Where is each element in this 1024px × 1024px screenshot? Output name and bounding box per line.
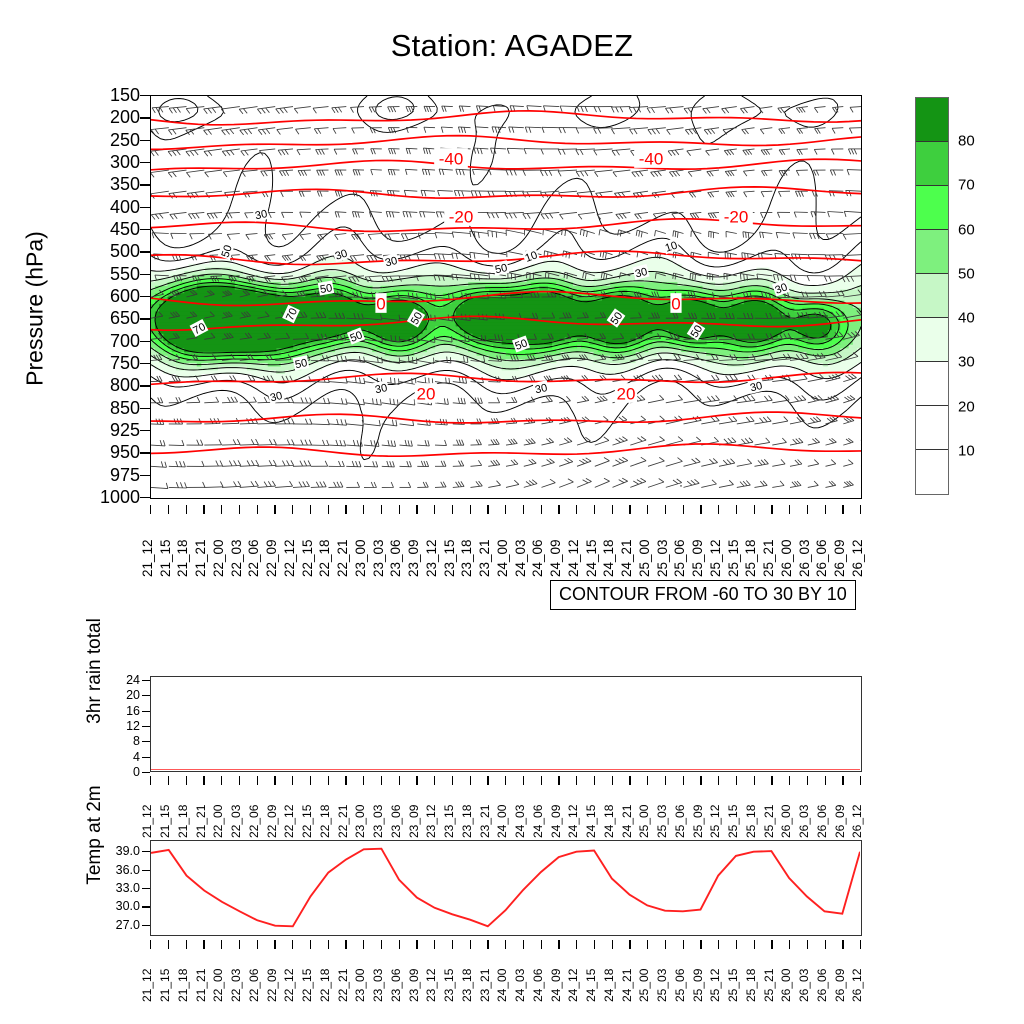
x-tick-label: 21_15 xyxy=(158,539,173,577)
main-y-axis-label: Pressure (hPa) xyxy=(22,144,49,474)
main-y-tickmark xyxy=(140,408,150,409)
contour-label: 20 xyxy=(415,383,437,403)
main-y-tick: 200 xyxy=(76,108,140,126)
x-tickmark xyxy=(771,505,772,514)
colorbar-tick-label: 20 xyxy=(958,398,975,415)
label-text: 50 xyxy=(319,282,333,296)
x-tick-label: 24_03 xyxy=(513,539,528,577)
x-tick-label: 25_03 xyxy=(655,539,670,577)
x-tick-label: 22_06 xyxy=(246,539,261,577)
x-tick-label: 22_09 xyxy=(265,969,279,1002)
x-tick-label: 21_15 xyxy=(158,805,172,838)
x-tick-label: 25_06 xyxy=(672,539,687,577)
x-tick-label: 23_03 xyxy=(371,539,386,577)
x-tickmark xyxy=(434,940,435,949)
x-tick-label: 25_21 xyxy=(762,969,776,1002)
label-text: 30 xyxy=(374,382,388,396)
x-tickmark xyxy=(363,776,364,785)
x-tick-label: 25_06 xyxy=(673,805,687,838)
main-y-tickmark xyxy=(140,95,150,96)
x-tickmark xyxy=(221,505,222,514)
wind-barb-feather xyxy=(746,232,747,238)
contour-label: -20 xyxy=(719,206,753,226)
main-y-tickmark xyxy=(140,363,150,364)
main-y-tickmark xyxy=(140,251,150,252)
main-y-tick: 300 xyxy=(76,153,140,171)
wind-barb-shaft xyxy=(832,128,843,129)
x-tickmark xyxy=(647,776,648,785)
rain-y-tickmark xyxy=(142,757,150,758)
label-text: 20 xyxy=(417,384,436,403)
contour-label: 20 xyxy=(615,383,637,403)
x-tickmark xyxy=(239,940,240,949)
label-text: -40 xyxy=(439,149,464,168)
x-tick-label: 23_00 xyxy=(353,969,367,1002)
wind-barb-shaft xyxy=(761,191,772,192)
x-tick-label: 21_18 xyxy=(176,969,190,1002)
wind-barb-shaft xyxy=(435,487,446,488)
wind-barb-shaft xyxy=(577,297,590,298)
x-tickmark xyxy=(541,505,542,514)
main-y-tickmark xyxy=(140,475,150,476)
x-tick-label: 21_21 xyxy=(193,539,208,577)
main-y-tick: 950 xyxy=(76,443,140,461)
x-tickmark xyxy=(523,776,524,785)
x-tick-label: 23_00 xyxy=(353,539,368,577)
x-tickmark xyxy=(186,776,187,785)
x-tick-label: 23_21 xyxy=(477,539,492,577)
wind-barb-feather xyxy=(425,377,426,383)
x-tick-label: 24_00 xyxy=(495,539,510,577)
x-tickmark xyxy=(203,505,204,514)
colorbar-tick-label: 60 xyxy=(958,221,975,238)
wind-barb-shaft xyxy=(400,466,412,467)
rain-total-plot[interactable] xyxy=(150,676,862,772)
x-tickmark xyxy=(345,940,346,949)
x-tick-label: 23_03 xyxy=(371,805,385,838)
x-tickmark xyxy=(186,505,187,514)
label-text: -40 xyxy=(639,149,664,168)
main-y-tick: 450 xyxy=(76,220,140,238)
wind-barb-shaft xyxy=(829,191,843,192)
x-tickmark xyxy=(558,776,559,785)
wind-barb-shaft xyxy=(311,487,326,488)
wind-barb-feather xyxy=(452,336,453,342)
x-tick-label: 25_18 xyxy=(744,969,758,1002)
label-text: 0 xyxy=(376,294,385,313)
x-tickmark xyxy=(558,940,559,949)
x-tickmark xyxy=(825,940,826,949)
label-text: 20 xyxy=(617,384,636,403)
temp-y-tickmark xyxy=(142,906,150,907)
wind-barb-feather xyxy=(395,378,396,384)
x-tickmark xyxy=(860,940,861,949)
x-tick-label: 21_21 xyxy=(194,805,208,838)
x-tick-label: 21_21 xyxy=(194,969,208,1002)
x-tick-label: 23_18 xyxy=(460,969,474,1002)
x-tick-label: 26_00 xyxy=(779,969,793,1002)
x-tick-label: 26_12 xyxy=(850,805,864,838)
x-tickmark xyxy=(612,940,613,949)
x-tickmark xyxy=(274,776,275,785)
x-tickmark xyxy=(771,776,772,785)
rain-y-tickmark xyxy=(142,772,150,773)
wind-barb-shaft xyxy=(293,466,311,467)
x-tick-label: 22_18 xyxy=(317,539,332,577)
x-tick-label: 24_12 xyxy=(566,805,580,838)
x-tick-label: 26_03 xyxy=(797,805,811,838)
x-tick-label: 24_00 xyxy=(495,805,509,838)
wind-barb-feather xyxy=(413,336,414,342)
x-tick-label: 22_15 xyxy=(300,539,315,577)
main-y-tickmark xyxy=(140,430,150,431)
x-tickmark xyxy=(221,776,222,785)
colorbar-tick-label: 70 xyxy=(958,177,975,194)
x-tickmark xyxy=(825,776,826,785)
main-y-tickmark xyxy=(140,140,150,141)
x-tickmark xyxy=(345,776,346,785)
x-tickmark xyxy=(399,940,400,949)
x-tick-label: 25_09 xyxy=(691,969,705,1002)
wind-barb-shaft xyxy=(187,402,200,403)
wind-barb-shaft xyxy=(487,212,506,213)
x-tick-label: 24_18 xyxy=(602,805,616,838)
wind-barb-feather xyxy=(744,274,745,280)
wind-barb-shaft xyxy=(424,127,435,128)
x-tick-label: 25_12 xyxy=(708,805,722,838)
x-tick-label: 24_21 xyxy=(619,539,634,577)
main-y-tick: 600 xyxy=(76,287,140,305)
x-tickmark xyxy=(470,505,471,514)
x-tickmark xyxy=(842,505,843,514)
label-text: -20 xyxy=(449,207,474,226)
wind-barb-shaft xyxy=(442,106,453,107)
contour-label: -40 xyxy=(634,148,668,168)
x-tick-label: 25_12 xyxy=(708,539,723,577)
x-tick-label: 25_15 xyxy=(726,969,740,1002)
x-tickmark xyxy=(363,505,364,514)
x-tickmark xyxy=(292,940,293,949)
temp-y-tickmark xyxy=(142,851,150,852)
wind-barb-feather xyxy=(695,274,696,280)
x-tick-label: 25_00 xyxy=(637,969,651,1002)
x-tick-label: 26_09 xyxy=(833,969,847,1002)
x-tickmark xyxy=(718,776,719,785)
x-tick-label: 23_06 xyxy=(389,969,403,1002)
wind-barb-feather xyxy=(488,231,489,237)
x-tickmark xyxy=(842,776,843,785)
main-y-tick: 350 xyxy=(76,175,140,193)
x-tick-label: 22_15 xyxy=(300,805,314,838)
x-tickmark xyxy=(310,940,311,949)
wind-barb-shaft xyxy=(371,170,382,171)
label-text: 30 xyxy=(534,382,548,396)
x-tick-label: 24_06 xyxy=(530,539,545,577)
x-tick-label: 22_03 xyxy=(229,539,244,577)
colorbar-band xyxy=(916,362,948,406)
x-tickmark xyxy=(683,776,684,785)
x-tickmark xyxy=(363,940,364,949)
x-tickmark xyxy=(736,505,737,514)
x-tickmark xyxy=(629,940,630,949)
main-y-tick: 1000 xyxy=(76,488,140,506)
x-tick-label: 22_12 xyxy=(282,539,297,577)
x-tick-label: 25_15 xyxy=(726,539,741,577)
x-tickmark xyxy=(150,940,151,949)
rain-y-tickmark xyxy=(142,741,150,742)
x-tick-label: 22_00 xyxy=(211,805,225,838)
x-tick-label: 23_21 xyxy=(478,969,492,1002)
x-tick-label: 26_12 xyxy=(850,969,864,1002)
wind-barb-feather xyxy=(747,275,748,281)
x-tick-label: 22_18 xyxy=(318,969,332,1002)
x-tick-label: 26_00 xyxy=(779,539,794,577)
x-tickmark xyxy=(399,505,400,514)
x-tickmark xyxy=(274,505,275,514)
x-tick-label: 22_09 xyxy=(265,805,279,838)
x-tickmark xyxy=(434,505,435,514)
wind-barb-shaft xyxy=(222,445,240,446)
x-tick-label: 24_09 xyxy=(549,805,563,838)
x-tickmark xyxy=(825,505,826,514)
x-tick-label: 24_18 xyxy=(602,969,616,1002)
x-tickmark xyxy=(168,940,169,949)
x-tickmark xyxy=(754,776,755,785)
x-tickmark xyxy=(292,505,293,514)
x-tick-label: 23_06 xyxy=(389,805,403,838)
x-tick-label: 23_21 xyxy=(478,805,492,838)
main-y-tickmark xyxy=(140,497,150,498)
x-tick-label: 25_18 xyxy=(743,539,758,577)
x-tickmark xyxy=(754,505,755,514)
main-y-tickmark xyxy=(140,318,150,319)
wind-barb-feather xyxy=(488,252,489,258)
x-tickmark xyxy=(718,505,719,514)
x-tick-label: 26_06 xyxy=(815,805,829,838)
contour-label: -40 xyxy=(434,148,468,168)
x-tick-label: 26_06 xyxy=(815,969,829,1002)
x-tickmark xyxy=(221,940,222,949)
x-tick-label: 26_12 xyxy=(850,539,865,577)
colorbar-band xyxy=(916,142,948,186)
x-tick-label: 23_09 xyxy=(407,805,421,838)
x-tick-label: 24_09 xyxy=(549,969,563,1002)
colorbar-tick-label: 30 xyxy=(958,354,975,371)
x-tickmark xyxy=(541,940,542,949)
x-tick-label: 23_18 xyxy=(459,539,474,577)
x-tickmark xyxy=(452,776,453,785)
wind-barb-shaft xyxy=(847,170,861,171)
x-tick-label: 23_00 xyxy=(353,805,367,838)
label-text: -20 xyxy=(724,207,749,226)
contour-label: 0 xyxy=(375,293,386,313)
humidity-colorbar xyxy=(915,97,949,495)
wind-barb-shaft xyxy=(318,212,329,213)
main-y-tick: 150 xyxy=(76,86,140,104)
x-tickmark xyxy=(186,940,187,949)
wind-barb-shaft xyxy=(540,170,559,171)
x-tick-label: 22_21 xyxy=(335,539,350,577)
x-tick-label: 22_00 xyxy=(211,539,226,577)
x-tick-label: 24_03 xyxy=(513,805,527,838)
x-tickmark xyxy=(736,940,737,949)
x-tick-label: 23_09 xyxy=(407,969,421,1002)
wind-barb-shaft xyxy=(489,170,506,171)
x-tickmark xyxy=(310,776,311,785)
x-tick-label: 22_09 xyxy=(264,539,279,577)
wind-barb-shaft xyxy=(611,107,630,108)
x-tickmark xyxy=(576,505,577,514)
x-tick-label: 23_12 xyxy=(424,805,438,838)
x-tickmark xyxy=(310,505,311,514)
x-tickmark xyxy=(647,505,648,514)
wind-barb-shaft xyxy=(814,149,825,150)
wind-barb-shaft xyxy=(169,487,187,488)
x-tickmark xyxy=(612,505,613,514)
wind-barb-shaft xyxy=(169,466,186,467)
wind-barb-shaft xyxy=(435,445,447,446)
wind-barb-shaft xyxy=(311,318,326,319)
temperature-2m-plot[interactable] xyxy=(150,840,862,936)
main-y-tick: 650 xyxy=(76,309,140,327)
x-tickmark xyxy=(487,505,488,514)
x-tick-label: 21_12 xyxy=(140,805,154,838)
contour-caption: CONTOUR FROM -60 TO 30 BY 10 xyxy=(550,580,856,610)
colorbar-tick-label: 40 xyxy=(958,310,975,327)
colorbar-tick-label: 80 xyxy=(958,133,975,150)
sounding-time-height-plot[interactable]: -40-40-20-200020203050303010105050303070… xyxy=(150,95,862,499)
x-tickmark xyxy=(416,776,417,785)
x-tick-label: 24_06 xyxy=(531,969,545,1002)
wind-barb-shaft xyxy=(488,382,500,383)
x-tickmark xyxy=(700,505,701,514)
wind-barb-shaft xyxy=(506,402,517,403)
main-y-tickmark xyxy=(140,452,150,453)
colorbar-band xyxy=(916,274,948,318)
main-x-tick-labels: 21_1221_1521_1821_2122_0022_0322_0622_09… xyxy=(150,505,862,577)
temp-svg xyxy=(151,841,860,934)
x-tick-label: 21_12 xyxy=(140,539,155,577)
x-tickmark xyxy=(860,505,861,514)
x-tickmark xyxy=(523,505,524,514)
x-tick-label: 25_12 xyxy=(708,969,722,1002)
main-y-tick: 400 xyxy=(76,198,140,216)
x-tickmark xyxy=(292,776,293,785)
x-tick-label: 24_15 xyxy=(584,805,598,838)
wind-barb-feather xyxy=(496,232,497,238)
wind-barb-feather xyxy=(492,231,493,237)
wind-barb-feather xyxy=(399,379,400,385)
colorbar-band xyxy=(916,98,948,142)
main-y-tickmark xyxy=(140,229,150,230)
x-tick-label: 22_06 xyxy=(247,805,261,838)
x-tickmark xyxy=(381,776,382,785)
wind-barb-shaft xyxy=(258,445,277,446)
x-tickmark xyxy=(470,776,471,785)
rain-y-tick: 20 xyxy=(86,688,140,702)
wind-barb-feather xyxy=(414,399,415,405)
x-tickmark xyxy=(665,505,666,514)
wind-barb-shaft xyxy=(737,318,753,319)
x-tickmark xyxy=(807,940,808,949)
x-tick-label: 23_06 xyxy=(388,539,403,577)
wind-barb-shaft xyxy=(507,148,524,149)
x-tick-label: 24_12 xyxy=(566,539,581,577)
x-tick-label: 25_03 xyxy=(655,805,669,838)
x-tickmark xyxy=(789,940,790,949)
contour-label: -20 xyxy=(444,206,478,226)
x-tickmark xyxy=(523,940,524,949)
temp-x-tick-labels: 21_1221_1521_1821_2122_0022_0322_0622_09… xyxy=(150,940,862,1002)
x-tickmark xyxy=(754,940,755,949)
wind-barb-feather xyxy=(450,357,451,363)
x-tickmark xyxy=(576,940,577,949)
x-tickmark xyxy=(150,505,151,514)
x-tick-label: 25_06 xyxy=(673,969,687,1002)
colorbar-band xyxy=(916,318,948,362)
x-tick-label: 22_12 xyxy=(282,969,296,1002)
label-text: 0 xyxy=(671,294,680,313)
wind-barb-shaft xyxy=(719,318,734,319)
wind-barb-shaft xyxy=(406,148,417,149)
colorbar-band xyxy=(916,230,948,274)
x-tick-label: 26_03 xyxy=(797,539,812,577)
x-tickmark xyxy=(541,776,542,785)
wind-barb-shaft xyxy=(258,423,277,424)
wind-barb-feather xyxy=(391,377,392,383)
x-tickmark xyxy=(505,505,506,514)
x-tickmark xyxy=(257,505,258,514)
wind-barb-shaft xyxy=(222,423,239,424)
x-tick-label: 25_15 xyxy=(726,805,740,838)
colorbar-tick-label: 50 xyxy=(958,265,975,282)
x-tick-label: 25_09 xyxy=(691,805,705,838)
wind-barb-shaft xyxy=(560,106,577,107)
x-tickmark xyxy=(683,940,684,949)
wind-barb-shaft xyxy=(558,149,577,150)
x-tickmark xyxy=(789,505,790,514)
wind-barb-feather xyxy=(434,337,435,343)
contour-label: 0 xyxy=(670,293,681,313)
x-tickmark xyxy=(594,940,595,949)
main-y-tickmark xyxy=(140,341,150,342)
main-y-tickmark xyxy=(140,117,150,118)
x-tickmark xyxy=(807,776,808,785)
x-tickmark xyxy=(665,776,666,785)
wind-barb-shaft xyxy=(346,466,361,467)
x-tickmark xyxy=(381,940,382,949)
x-tickmark xyxy=(629,505,630,514)
x-tick-label: 24_12 xyxy=(566,969,580,1002)
x-tickmark xyxy=(470,940,471,949)
temp-y-tickmark xyxy=(142,870,150,871)
x-tickmark xyxy=(239,505,240,514)
x-tick-label: 23_15 xyxy=(442,969,456,1002)
x-tickmark xyxy=(416,940,417,949)
x-tickmark xyxy=(345,505,346,514)
x-tick-label: 23_15 xyxy=(442,539,457,577)
temperature-series-line xyxy=(151,849,860,927)
x-tick-label: 22_21 xyxy=(336,969,350,1002)
x-tickmark xyxy=(789,776,790,785)
x-tick-label: 26_06 xyxy=(814,539,829,577)
x-tick-label: 26_00 xyxy=(779,805,793,838)
main-y-tick: 550 xyxy=(76,265,140,283)
x-tickmark xyxy=(860,776,861,785)
wind-barb-feather xyxy=(489,273,490,279)
main-y-tick: 850 xyxy=(76,399,140,417)
x-tick-label: 21_18 xyxy=(176,805,190,838)
